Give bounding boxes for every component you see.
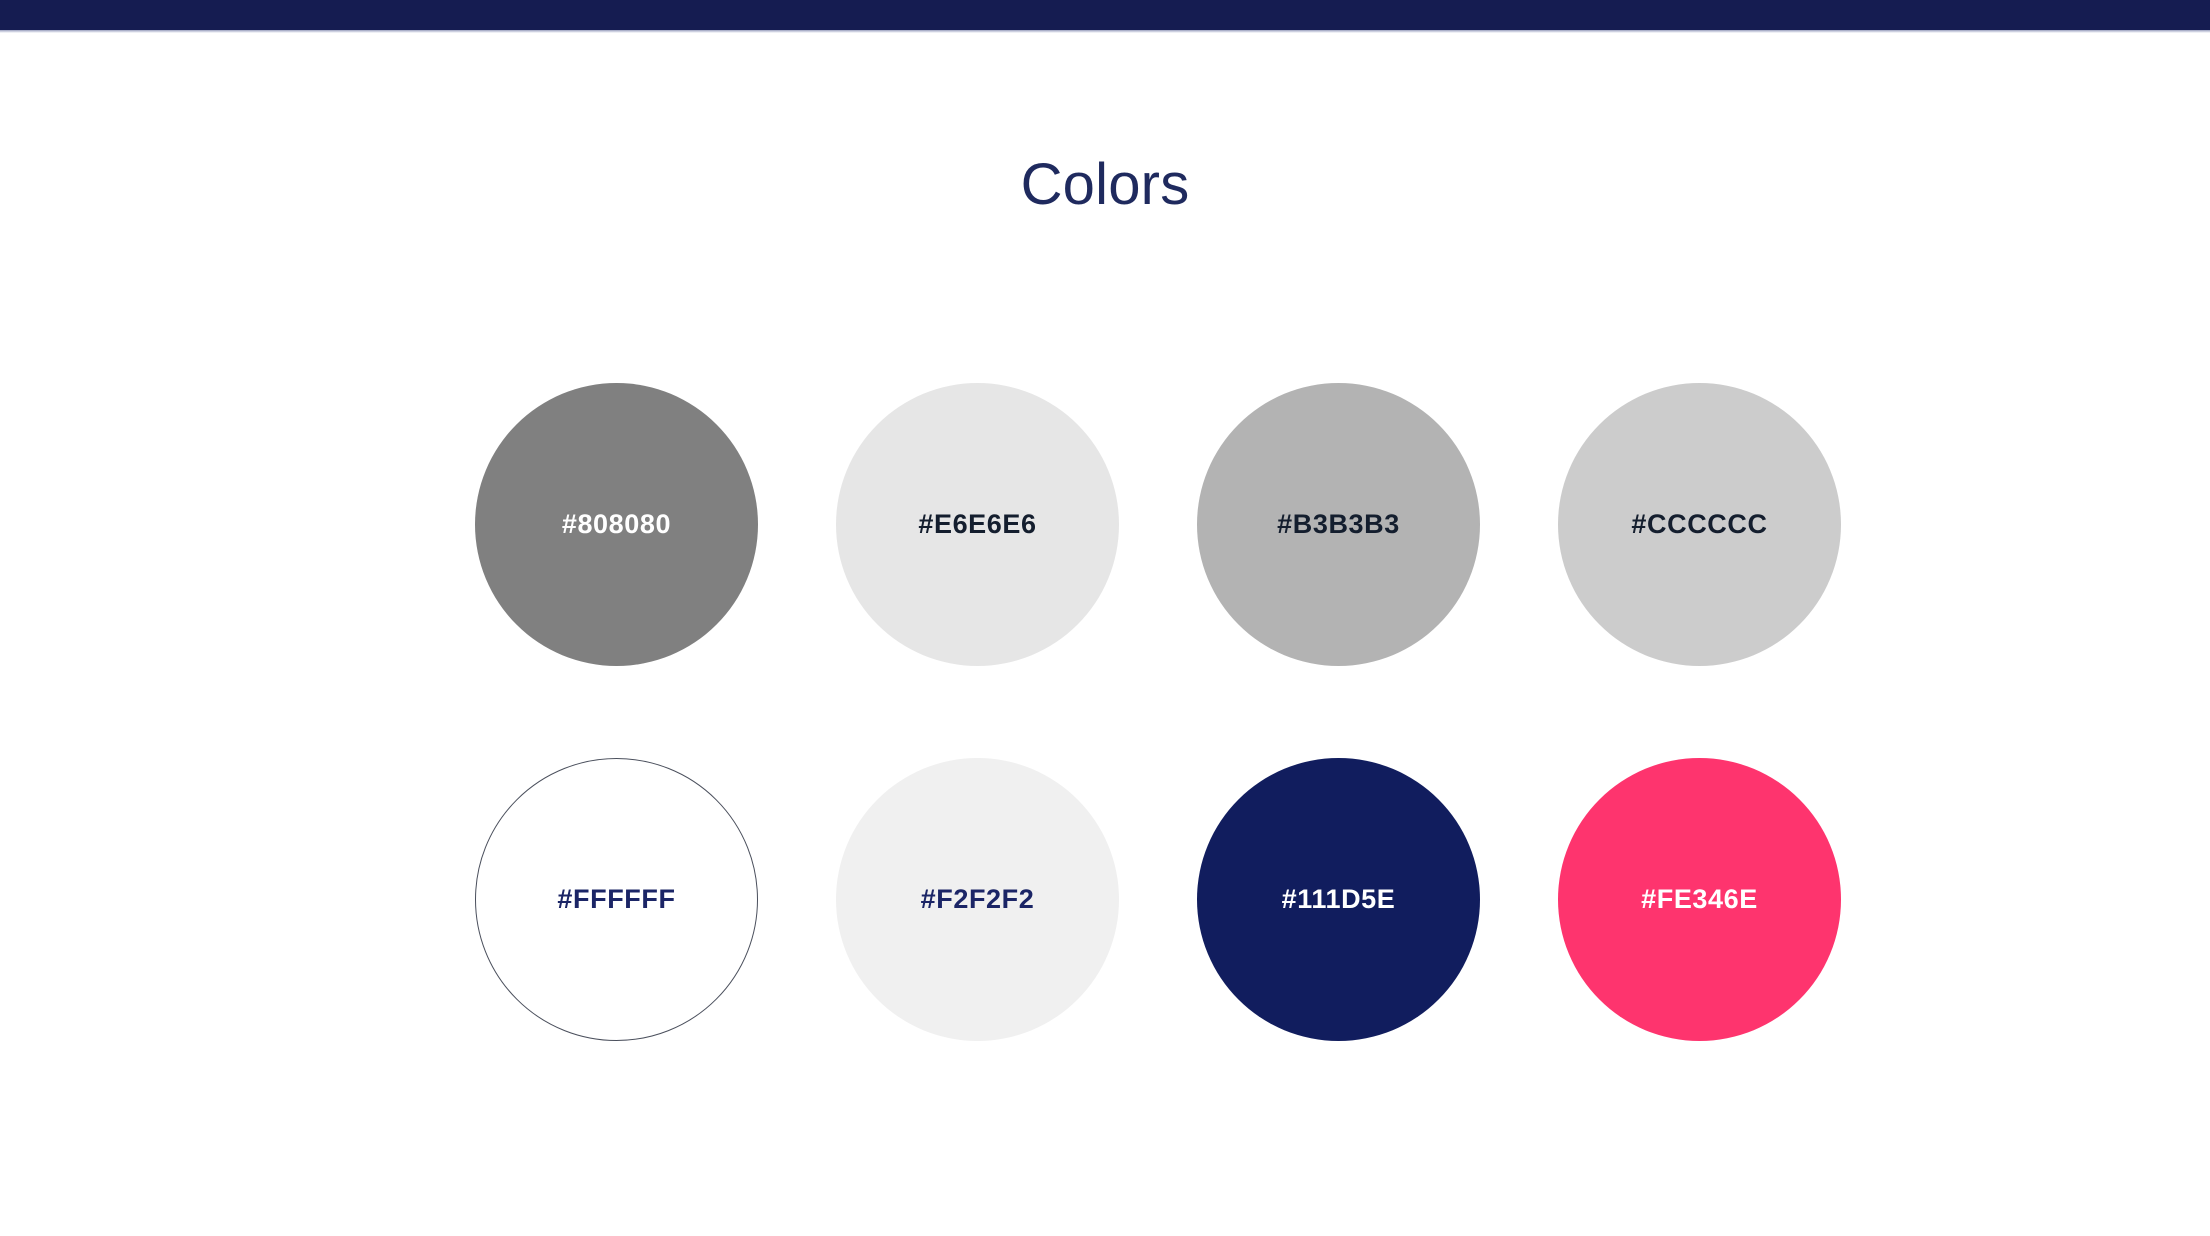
color-swatch-label: #808080 xyxy=(562,509,671,540)
color-swatch[interactable]: #FFFFFF xyxy=(475,758,758,1041)
color-swatch-grid: #808080 #E6E6E6 #B3B3B3 #CCCCCC #FFFFFF … xyxy=(475,383,1985,1041)
color-swatch-label: #FFFFFF xyxy=(557,884,675,915)
color-swatch-label: #F2F2F2 xyxy=(921,884,1035,915)
color-swatch-label: #CCCCCC xyxy=(1631,509,1767,540)
color-swatch[interactable]: #CCCCCC xyxy=(1558,383,1841,666)
color-swatch-label: #E6E6E6 xyxy=(918,509,1036,540)
color-swatch-row: #FFFFFF #F2F2F2 #111D5E #FE346E xyxy=(475,758,1985,1041)
color-swatch-row: #808080 #E6E6E6 #B3B3B3 #CCCCCC xyxy=(475,383,1985,666)
top-accent-bar xyxy=(0,0,2210,30)
color-swatch-label: #FE346E xyxy=(1641,884,1758,915)
color-swatch[interactable]: #F2F2F2 xyxy=(836,758,1119,1041)
top-accent-bar-underline xyxy=(0,30,2210,33)
color-swatch[interactable]: #E6E6E6 xyxy=(836,383,1119,666)
color-swatch[interactable]: #808080 xyxy=(475,383,758,666)
color-swatch[interactable]: #FE346E xyxy=(1558,758,1841,1041)
page-title: Colors xyxy=(0,152,2210,219)
color-swatch[interactable]: #B3B3B3 xyxy=(1197,383,1480,666)
color-swatch[interactable]: #111D5E xyxy=(1197,758,1480,1041)
color-swatch-label: #111D5E xyxy=(1282,884,1396,915)
color-swatch-label: #B3B3B3 xyxy=(1277,509,1400,540)
